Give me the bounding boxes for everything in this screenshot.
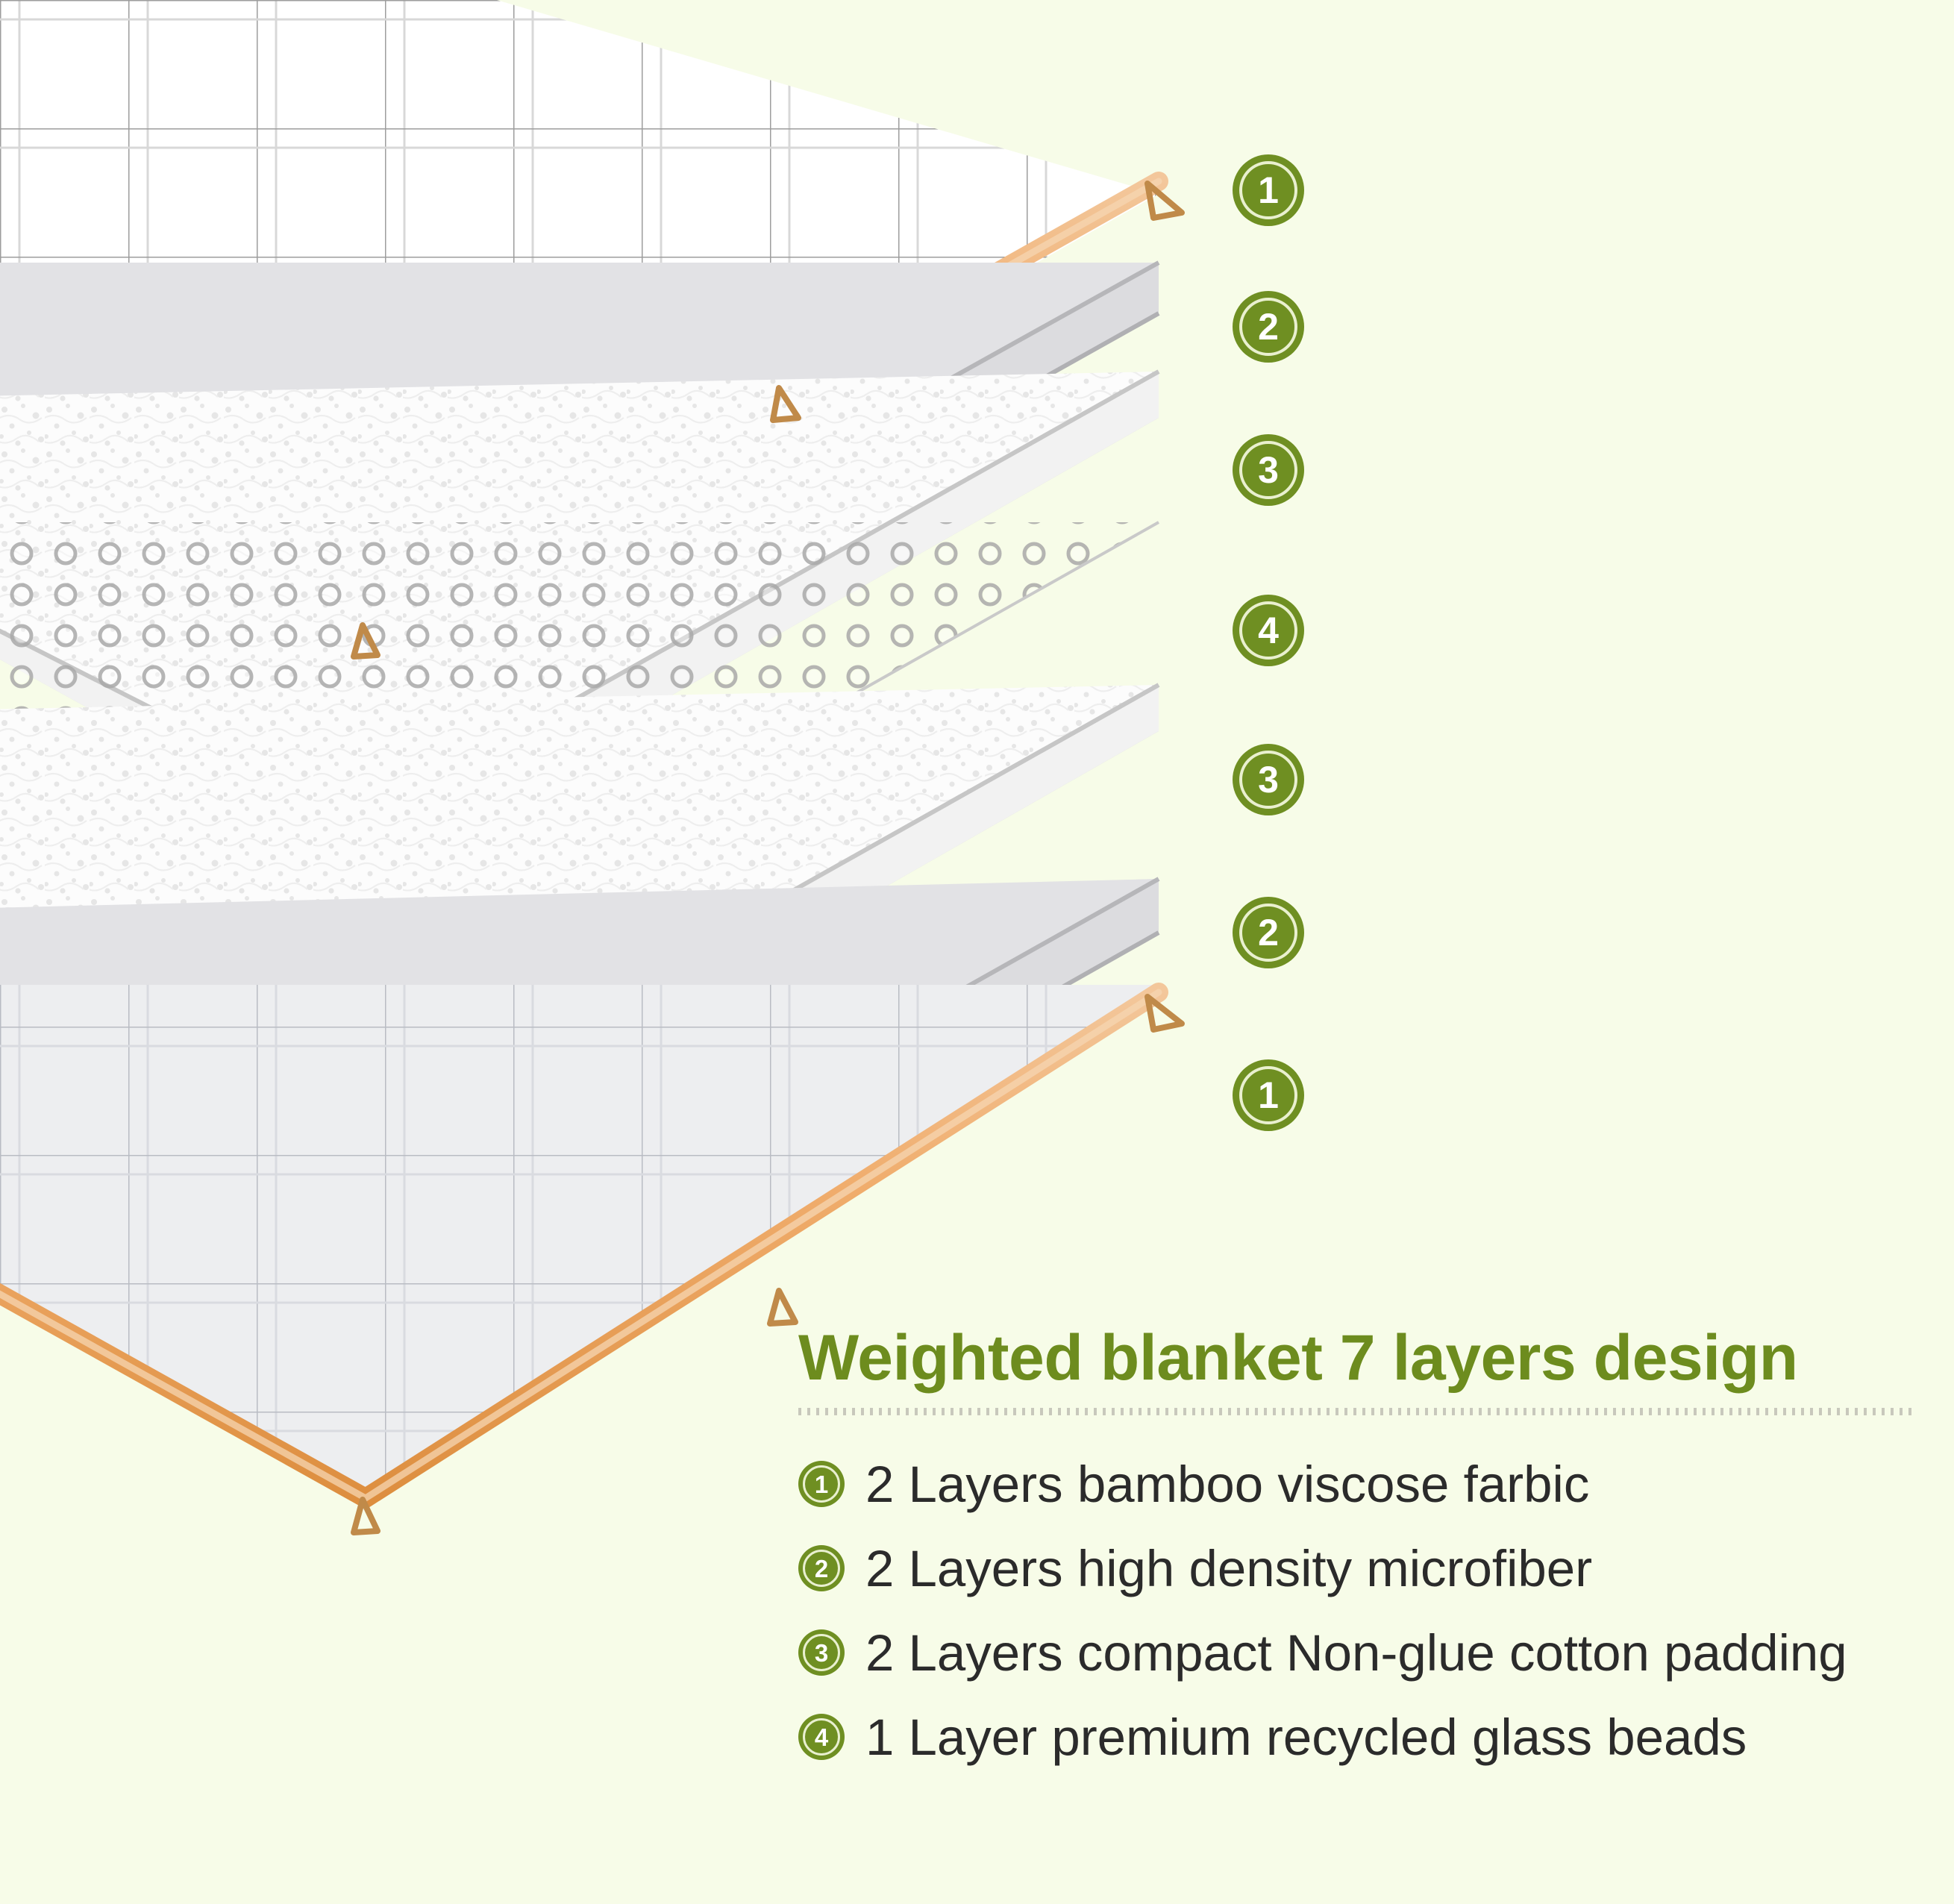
callout-1-top[interactable]: 1 <box>1233 154 1304 226</box>
badge-number: 3 <box>1258 761 1279 798</box>
callout-3-top[interactable]: 3 <box>1233 434 1304 506</box>
legend-item-label: 2 Layers compact Non-glue cotton padding <box>865 1627 1847 1679</box>
callout-2-top[interactable]: 2 <box>1233 291 1304 363</box>
legend-item-1[interactable]: 1 2 Layers bamboo viscose farbic <box>798 1454 1917 1514</box>
badge-number: 1 <box>1258 172 1279 209</box>
legend-title: Weighted blanket 7 layers design <box>798 1324 1917 1391</box>
callout-1-bottom[interactable]: 1 <box>1233 1059 1304 1131</box>
legend-divider <box>798 1408 1914 1415</box>
legend-badge-icon: 1 <box>798 1461 845 1507</box>
legend-item-4[interactable]: 4 1 Layer premium recycled glass beads <box>798 1707 1917 1767</box>
badge-circle: 2 <box>1233 291 1304 363</box>
legend-item-label: 2 Layers high density microfiber <box>865 1543 1592 1594</box>
legend-badge-icon: 4 <box>798 1714 845 1760</box>
diagram-stage: 1 2 3 4 3 2 1 Weighted blanket 7 layers … <box>0 0 1954 1904</box>
legend-badge-number: 4 <box>815 1725 828 1750</box>
legend-panel: Weighted blanket 7 layers design 1 2 Lay… <box>798 1324 1917 1767</box>
badge-number: 4 <box>1258 612 1279 649</box>
legend-badge-number: 1 <box>815 1472 828 1497</box>
legend-badge-number: 3 <box>815 1641 828 1665</box>
legend-item-label: 2 Layers bamboo viscose farbic <box>865 1459 1589 1510</box>
legend-badge-icon: 2 <box>798 1545 845 1591</box>
legend-item-2[interactable]: 2 2 Layers high density microfiber <box>798 1538 1917 1598</box>
badge-number: 2 <box>1258 308 1279 345</box>
badge-circle: 1 <box>1233 154 1304 226</box>
legend-badge-number: 2 <box>815 1556 828 1581</box>
badge-circle: 4 <box>1233 595 1304 666</box>
badge-number: 1 <box>1258 1077 1279 1114</box>
badge-number: 2 <box>1258 914 1279 951</box>
badge-circle: 2 <box>1233 897 1304 968</box>
legend-item-3[interactable]: 3 2 Layers compact Non-glue cotton paddi… <box>798 1623 1917 1682</box>
legend-list: 1 2 Layers bamboo viscose farbic 2 2 Lay… <box>798 1454 1917 1767</box>
badge-circle: 3 <box>1233 434 1304 506</box>
badge-number: 3 <box>1258 451 1279 489</box>
legend-item-label: 1 Layer premium recycled glass beads <box>865 1712 1747 1763</box>
callout-2-bottom[interactable]: 2 <box>1233 897 1304 968</box>
badge-circle: 1 <box>1233 1059 1304 1131</box>
callout-3-bottom[interactable]: 3 <box>1233 744 1304 815</box>
badge-circle: 3 <box>1233 744 1304 815</box>
legend-badge-icon: 3 <box>798 1629 845 1676</box>
callout-4-beads[interactable]: 4 <box>1233 595 1304 666</box>
